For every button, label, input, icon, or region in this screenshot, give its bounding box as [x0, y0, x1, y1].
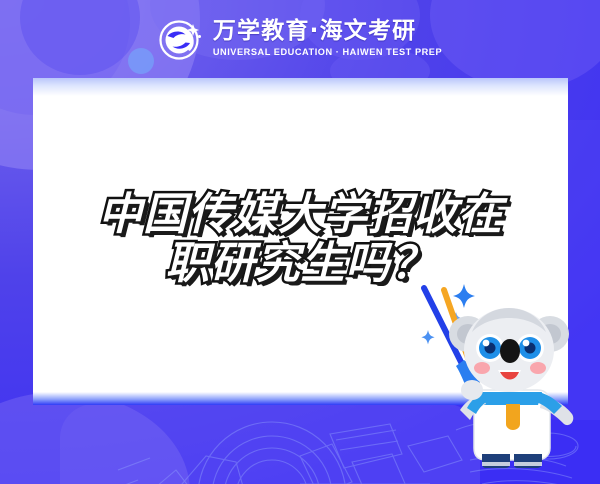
mascot-paw	[461, 380, 483, 400]
mascot-shoe-sole-left	[482, 462, 510, 466]
mascot-nose	[500, 339, 520, 363]
koala-mascot	[420, 272, 600, 472]
mascot-eye-glint-right	[523, 340, 530, 347]
brand-text: 万学教育·海文考研 UNIVERSAL EDUCATION · HAIWEN T…	[213, 20, 442, 57]
mascot-shoe-sole-right	[514, 462, 542, 466]
mascot-cheek-left	[474, 362, 490, 374]
mascot-eye-glint-left	[483, 340, 490, 347]
mascot-collar-tag	[506, 404, 520, 430]
brand-logo: 万学教育·海文考研 UNIVERSAL EDUCATION · HAIWEN T…	[0, 0, 600, 78]
mascot-collar	[480, 392, 542, 405]
logo-swirl-icon	[158, 16, 204, 62]
brand-name-cn: 万学教育·海文考研	[213, 20, 417, 43]
mascot-cheek-right	[530, 362, 546, 374]
card-top-fade	[33, 78, 568, 96]
brand-name-en: UNIVERSAL EDUCATION · HAIWEN TEST PREP	[213, 48, 442, 57]
